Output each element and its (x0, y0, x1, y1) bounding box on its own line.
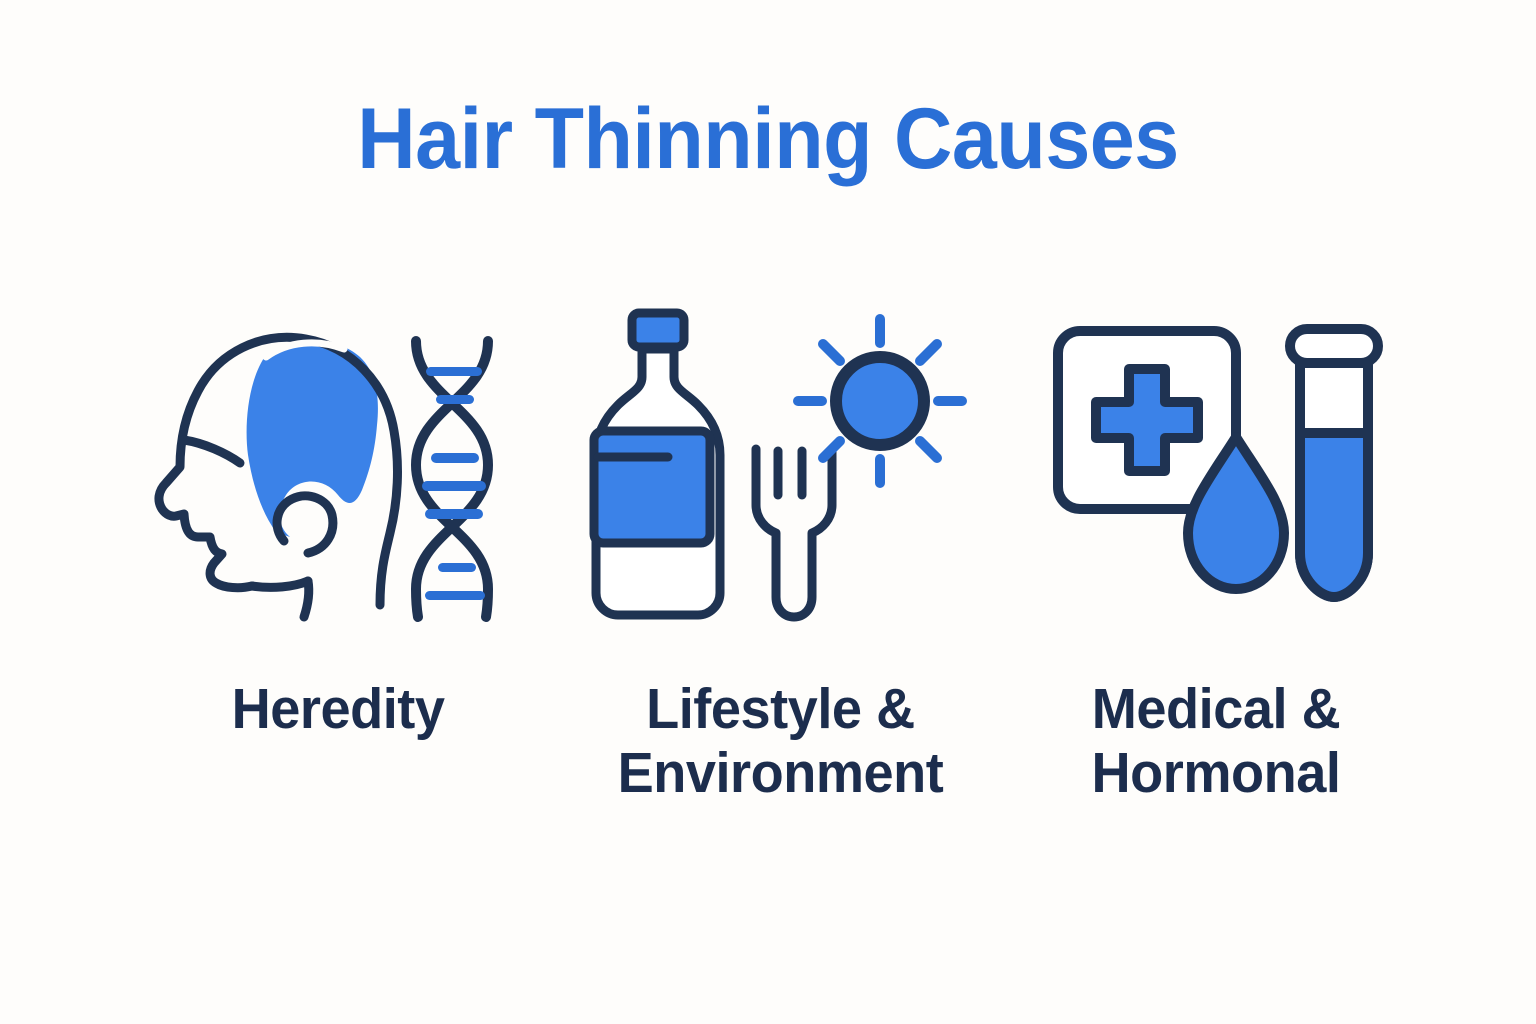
dna-rung (431, 453, 479, 463)
neck-line-path (304, 581, 309, 617)
sun-ray-nw (823, 344, 840, 361)
water-bottle-icon (594, 313, 720, 615)
cause-label-line-1: Medical & (1092, 678, 1341, 742)
dna-rung (426, 367, 482, 376)
sun-disc-circle (836, 357, 924, 445)
infographic-canvas: Hair Thinning Causes (0, 0, 1536, 1024)
sun-icon (798, 319, 962, 483)
test-tube-icon (1290, 329, 1378, 597)
cause-card-heredity[interactable]: Heredity (143, 300, 533, 742)
medical-card-drop-and-tube-icon (1046, 315, 1386, 615)
lifestyle-icon-group (580, 300, 980, 630)
fork-outline-path (756, 449, 832, 617)
dna-rung (425, 591, 485, 600)
heredity-icon-group (148, 300, 528, 630)
sun-ray-sw (823, 441, 840, 458)
cause-card-lifestyle-environment[interactable]: Lifestyle & Environment (585, 300, 975, 806)
cause-label-line-2: Environment (617, 742, 943, 806)
dna-rung (422, 481, 486, 491)
bottle-cap-rect (632, 313, 684, 347)
test-tube-liquid-shape (1302, 433, 1366, 594)
medical-icon-group (1046, 300, 1386, 630)
page-title: Hair Thinning Causes (46, 96, 1490, 182)
hair-patch-shape (247, 341, 378, 537)
cause-label-line-2: Hormonal (1092, 742, 1341, 806)
test-tube-cap-rect (1290, 329, 1378, 363)
cause-label-medical-hormonal: Medical & Hormonal (1092, 678, 1341, 806)
cause-card-medical-hormonal[interactable]: Medical & Hormonal (1021, 300, 1411, 806)
causes-columns: Heredity (0, 300, 1536, 900)
head-profile-icon (159, 337, 398, 617)
ear-path (277, 496, 333, 553)
fork-icon (756, 449, 832, 617)
cause-label-line-1: Heredity (232, 678, 445, 742)
cause-label-lifestyle-environment: Lifestyle & Environment (617, 678, 943, 806)
bottle-label-rect (594, 431, 710, 543)
brow-line-path (184, 440, 240, 463)
dna-rung (425, 509, 483, 519)
dna-helix-icon (416, 341, 488, 617)
dna-rung (436, 395, 474, 404)
bottle-fork-and-sun-icon (580, 305, 980, 625)
head-profile-and-dna-icon (148, 305, 528, 625)
jaw-line-path (252, 581, 308, 587)
sun-ray-se (920, 441, 937, 458)
cause-label-line-1: Lifestyle & (617, 678, 943, 742)
sun-ray-ne (920, 344, 937, 361)
dna-rung (438, 563, 476, 572)
cause-label-heredity: Heredity (232, 678, 445, 742)
